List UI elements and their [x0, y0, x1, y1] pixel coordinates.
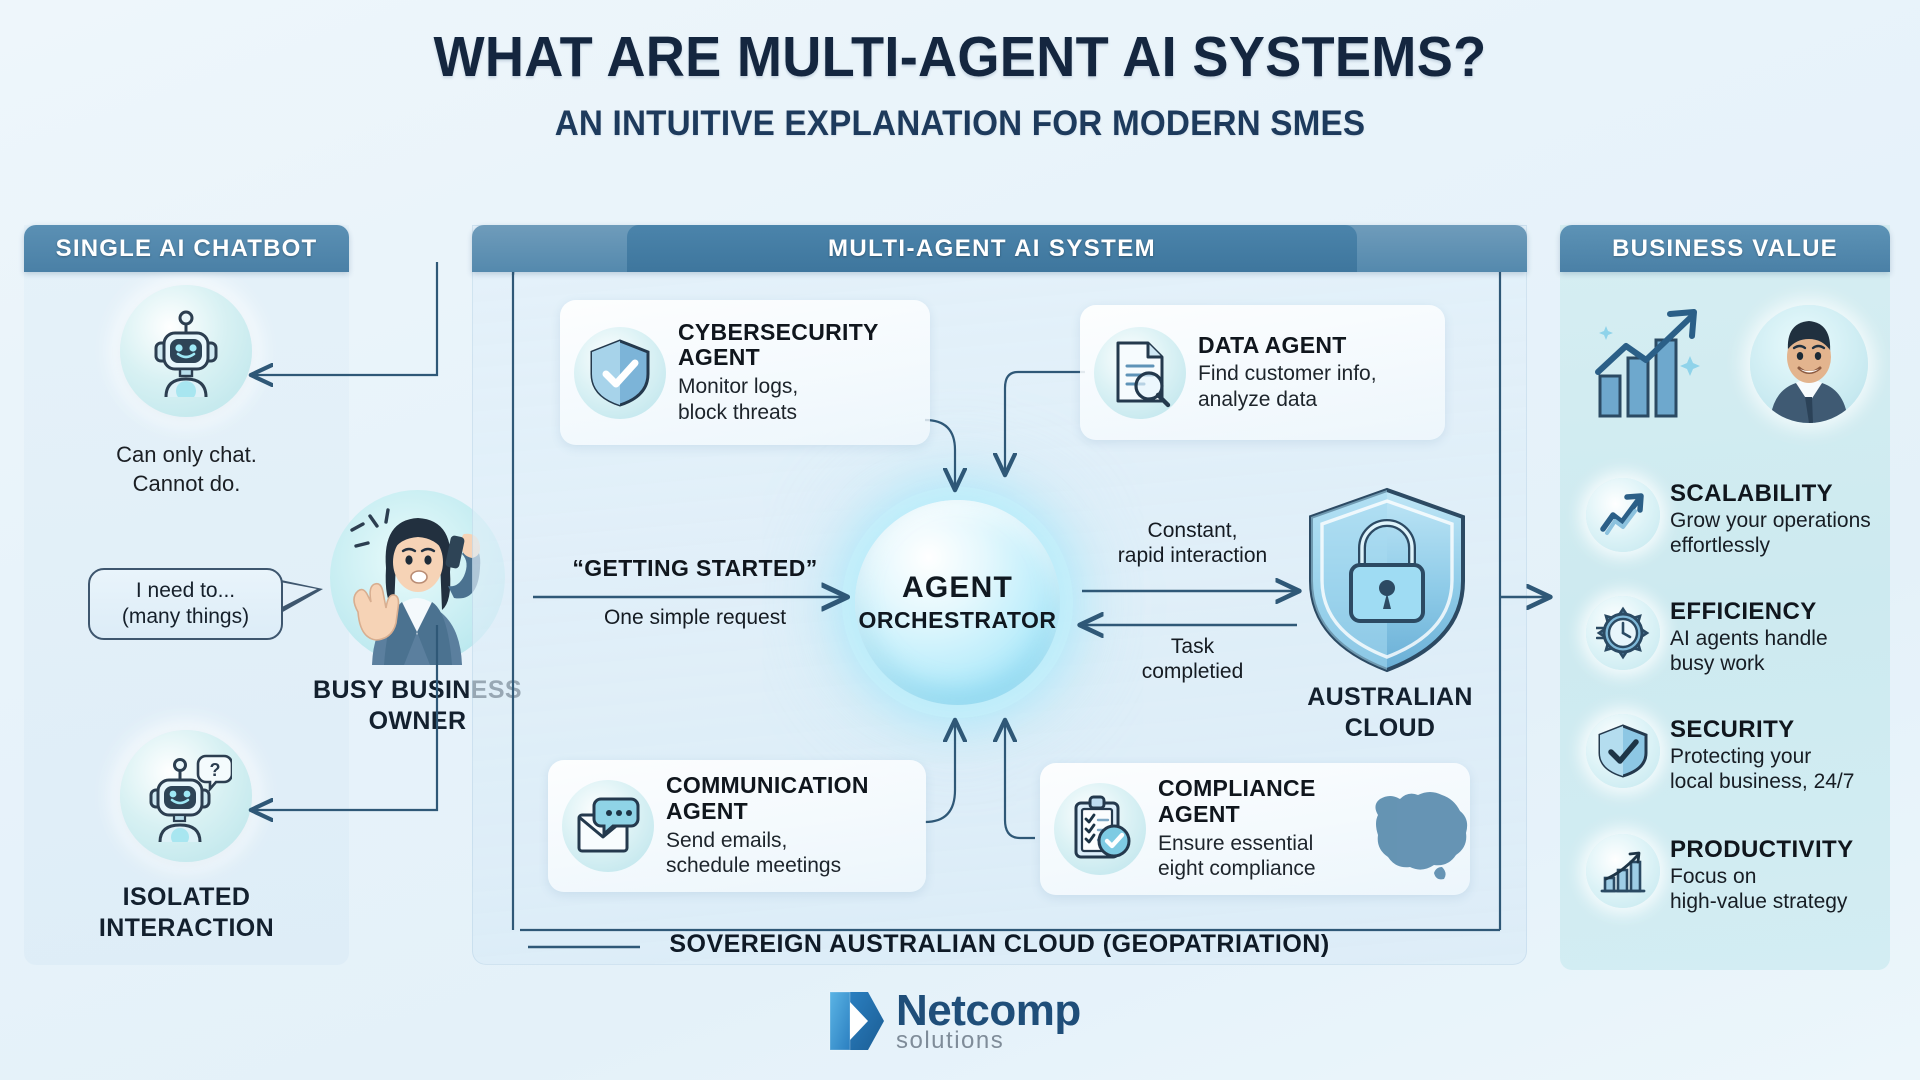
agent-desc: Send emails, schedule meetings — [666, 828, 912, 879]
shield-lock-icon-glyph — [1305, 485, 1470, 675]
isolated-interaction-line1: ISOLATED — [24, 882, 349, 913]
benefit-desc-line2: effortlessly — [1670, 533, 1871, 558]
chatbot-top-caption: Can only chat. Cannot do. — [24, 440, 349, 498]
shield-check-icon — [574, 327, 666, 419]
benefit-productivity[interactable]: PRODUCTIVITY Focus on high-value strateg… — [1586, 834, 1896, 914]
benefit-security-text: SECURITY Protecting your local business,… — [1670, 714, 1854, 794]
growth-bar-chart-icon — [1586, 300, 1716, 430]
chatbot-top-caption-line2: Cannot do. — [24, 469, 349, 498]
left-panel-header-label: SINGLE AI CHATBOT — [56, 235, 318, 263]
right-panel-header: BUSINESS VALUE — [1560, 225, 1890, 272]
center-panel-header-label: MULTI-AGENT AI SYSTEM — [828, 235, 1156, 263]
chatbot-top-caption-line1: Can only chat. — [24, 440, 349, 469]
clipboard-check-icon-glyph — [1068, 795, 1132, 863]
agent-name-line2: AGENT — [678, 345, 916, 371]
robot-icon-glyph — [140, 305, 232, 397]
flow-task-line1: Task — [1105, 634, 1280, 659]
australia-map-icon — [1356, 769, 1470, 889]
benefit-security[interactable]: SECURITY Protecting your local business,… — [1586, 714, 1886, 794]
document-search-icon — [1094, 327, 1186, 419]
benefit-scalability[interactable]: SCALABILITY Grow your operations effortl… — [1586, 478, 1886, 558]
speech-bubble-line1: I need to... — [136, 578, 235, 604]
agent-name: DATA AGENT — [1198, 333, 1431, 359]
robot-question-icon-glyph: ? — [140, 750, 232, 842]
agent-desc-line2: schedule meetings — [666, 853, 912, 879]
agent-card-communication[interactable]: COMMUNICATION AGENT Send emails, schedul… — [548, 760, 926, 892]
trend-up-arrow-icon-glyph — [1597, 489, 1649, 541]
orchestrator-line2: ORCHESTRATOR — [858, 607, 1056, 634]
svg-text:?: ? — [210, 760, 221, 780]
australian-cloud-line1: AUSTRALIAN — [1255, 682, 1525, 713]
chatbot-bottom-group: ? — [120, 730, 252, 862]
chevron-ribbon-logo-icon — [828, 988, 886, 1054]
australian-cloud-line2: CLOUD — [1255, 713, 1525, 744]
flow-constant-line2: rapid interaction — [1090, 543, 1295, 568]
trend-up-arrow-icon — [1586, 478, 1660, 552]
flow-label-getting-started: “GETTING STARTED” — [545, 555, 845, 582]
envelope-chat-icon — [562, 780, 654, 872]
flow-label-constant-interaction: Constant, rapid interaction — [1090, 518, 1295, 568]
infographic-header: WHAT ARE MULTI-AGENT AI SYSTEMS? AN INTU… — [0, 28, 1920, 144]
sovereign-cloud-footer: SOVEREIGN AUSTRALIAN CLOUD (GEOPATRIATIO… — [472, 930, 1527, 959]
speech-bubble-tail-inner — [280, 582, 317, 608]
chatbot-top-group — [120, 285, 252, 417]
envelope-chat-icon-glyph — [575, 795, 641, 857]
agent-card-cybersecurity-text: CYBERSECURITY AGENT Monitor logs, block … — [678, 320, 916, 426]
benefit-desc-line1: Focus on — [1670, 864, 1853, 889]
page-subtitle: AN INTUITIVE EXPLANATION FOR MODERN SMES — [48, 104, 1872, 144]
agent-card-compliance[interactable]: COMPLIANCE AGENT Ensure essential eight … — [1040, 763, 1470, 895]
benefit-efficiency-text: EFFICIENCY AI agents handle busy work — [1670, 596, 1828, 676]
agent-card-communication-text: COMMUNICATION AGENT Send emails, schedul… — [666, 773, 912, 879]
agent-card-data[interactable]: DATA AGENT Find customer info, analyze d… — [1080, 305, 1445, 440]
agent-desc-line1: Find customer info, — [1198, 361, 1431, 387]
flow-task-line2: completied — [1105, 659, 1280, 684]
flow-constant-line1: Constant, — [1090, 518, 1295, 543]
center-panel-header: MULTI-AGENT AI SYSTEM — [627, 225, 1357, 272]
benefit-productivity-text: PRODUCTIVITY Focus on high-value strateg… — [1670, 834, 1853, 914]
logo-tagline: solutions — [896, 1029, 1081, 1053]
netcomp-logo-text: Netcomp solutions — [896, 989, 1081, 1053]
isolated-interaction-line2: INTERACTION — [24, 913, 349, 944]
agent-name-line1: DATA AGENT — [1198, 333, 1431, 359]
benefit-efficiency[interactable]: EFFICIENCY AI agents handle busy work — [1586, 596, 1886, 676]
flow-getting-started-quote: “GETTING STARTED” — [545, 555, 845, 582]
agent-desc-line2: analyze data — [1198, 387, 1431, 413]
agent-card-data-text: DATA AGENT Find customer info, analyze d… — [1198, 333, 1431, 413]
robot-icon — [120, 285, 252, 417]
benefit-desc-line2: busy work — [1670, 651, 1828, 676]
shield-check-icon-glyph — [1597, 723, 1649, 779]
benefit-desc-line2: local business, 24/7 — [1670, 769, 1854, 794]
happy-businessman-avatar — [1750, 305, 1868, 423]
orchestrator-line1: AGENT — [902, 571, 1013, 605]
gear-clock-icon — [1586, 596, 1660, 670]
agent-name-line1: CYBERSECURITY — [678, 320, 916, 346]
agent-desc: Monitor logs, block threats — [678, 374, 916, 425]
benefit-desc-line1: Grow your operations — [1670, 508, 1871, 533]
bar-chart-up-icon-glyph — [1597, 845, 1649, 897]
page-title: WHAT ARE MULTI-AGENT AI SYSTEMS? — [48, 28, 1872, 88]
agent-name-line2: AGENT — [666, 799, 912, 825]
benefit-desc-line2: high-value strategy — [1670, 889, 1853, 914]
flow-label-task-completed: Task completied — [1105, 634, 1280, 684]
benefit-name: SECURITY — [1670, 716, 1854, 744]
speech-bubble-line2: (many things) — [122, 604, 249, 630]
benefit-desc-line1: Protecting your — [1670, 744, 1854, 769]
right-panel-header-label: BUSINESS VALUE — [1612, 235, 1838, 263]
agent-desc-line1: Send emails, — [666, 828, 912, 854]
shield-check-icon — [1586, 714, 1660, 788]
document-search-icon-glyph — [1108, 338, 1172, 408]
australian-cloud-shield — [1305, 485, 1470, 675]
benefit-scalability-text: SCALABILITY Grow your operations effortl… — [1670, 478, 1871, 558]
australian-cloud-label: AUSTRALIAN CLOUD — [1255, 682, 1525, 743]
agent-name: COMMUNICATION AGENT — [666, 773, 912, 825]
agent-desc-line2: block threats — [678, 400, 916, 426]
netcomp-logo[interactable]: Netcomp solutions — [828, 988, 1081, 1054]
robot-question-icon: ? — [120, 730, 252, 862]
agent-orchestrator[interactable]: AGENT ORCHESTRATOR — [855, 500, 1060, 705]
shield-check-icon-glyph — [588, 338, 652, 408]
agent-name-line1: COMMUNICATION — [666, 773, 912, 799]
isolated-interaction-label: ISOLATED INTERACTION — [24, 882, 349, 943]
gear-clock-icon-glyph — [1596, 606, 1650, 660]
agent-card-cybersecurity[interactable]: CYBERSECURITY AGENT Monitor logs, block … — [560, 300, 930, 445]
benefit-name: EFFICIENCY — [1670, 598, 1828, 626]
agent-desc: Find customer info, analyze data — [1198, 361, 1431, 412]
left-panel-header: SINGLE AI CHATBOT — [24, 225, 349, 272]
owner-speech-bubble: I need to... (many things) — [88, 568, 283, 640]
clipboard-check-icon — [1054, 783, 1146, 875]
agent-name: CYBERSECURITY AGENT — [678, 320, 916, 372]
benefit-name: PRODUCTIVITY — [1670, 836, 1853, 864]
bar-chart-up-icon — [1586, 834, 1660, 908]
flow-getting-started-sub: One simple request — [545, 605, 845, 630]
benefit-desc-line1: AI agents handle — [1670, 626, 1828, 651]
agent-desc-line1: Monitor logs, — [678, 374, 916, 400]
happy-businessman-avatar-glyph — [1750, 305, 1868, 423]
flow-label-one-simple-request: One simple request — [545, 605, 845, 630]
benefit-name: SCALABILITY — [1670, 480, 1871, 508]
